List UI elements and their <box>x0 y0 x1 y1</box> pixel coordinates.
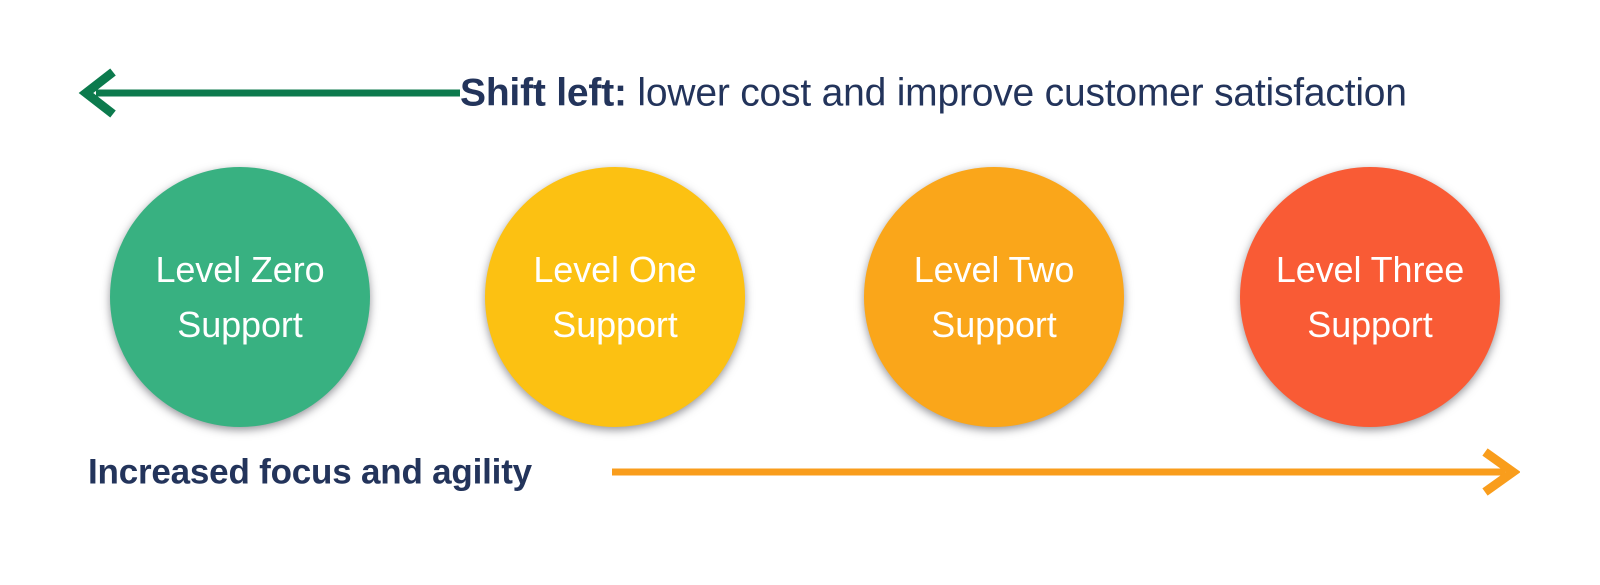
support-circle-label-line1: Level Zero <box>155 242 324 297</box>
support-circle-label-line2: Support <box>1307 297 1432 352</box>
shift-left-row: Shift left: lower cost and improve custo… <box>0 56 1600 130</box>
support-circle-label-line2: Support <box>552 297 677 352</box>
support-circle-label-line2: Support <box>931 297 1056 352</box>
support-circle-level-one[interactable]: Level One Support <box>485 167 745 427</box>
shift-left-caption: Shift left: lower cost and improve custo… <box>460 74 1407 113</box>
support-circle-level-zero[interactable]: Level Zero Support <box>110 167 370 427</box>
agility-row: Increased focus and agility <box>0 440 1600 504</box>
support-circle-label-line1: Level One <box>533 242 696 297</box>
agility-caption: Increased focus and agility <box>88 455 532 490</box>
support-circle-label-line2: Support <box>177 297 302 352</box>
support-level-circles: Level Zero Support Level One Support Lev… <box>0 167 1600 429</box>
support-circle-level-three[interactable]: Level Three Support <box>1240 167 1500 427</box>
right-arrow-icon <box>612 440 1520 504</box>
left-arrow-icon <box>78 56 460 130</box>
support-circle-label-line1: Level Two <box>914 242 1075 297</box>
support-circle-label-line1: Level Three <box>1276 242 1464 297</box>
shift-left-caption-strong: Shift left: <box>460 72 627 115</box>
support-circle-level-two[interactable]: Level Two Support <box>864 167 1124 427</box>
shift-left-caption-rest: lower cost and improve customer satisfac… <box>627 72 1407 115</box>
